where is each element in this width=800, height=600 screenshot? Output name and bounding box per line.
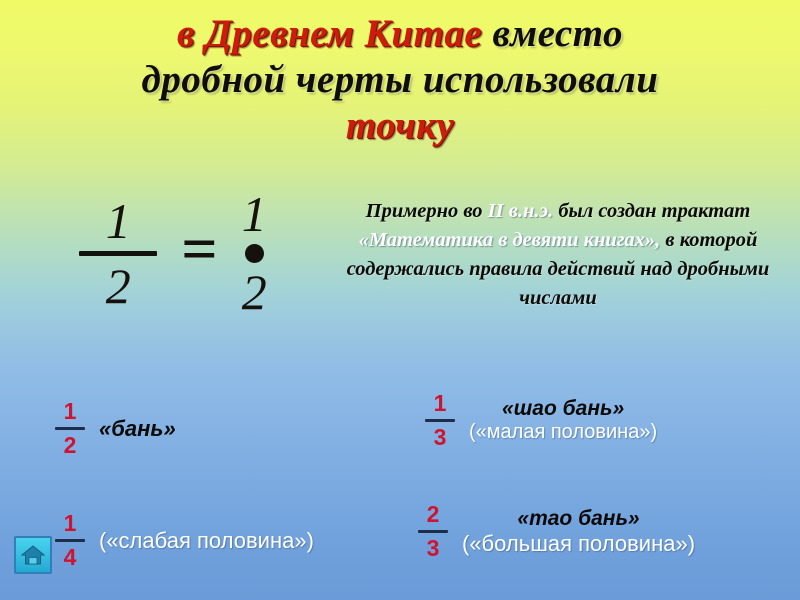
denominator: 3 (434, 425, 447, 449)
term-gloss: («малая половина») (469, 421, 657, 444)
fraction-bar-line (79, 251, 157, 256)
equals-sign: = (181, 217, 217, 281)
fraction-line (55, 539, 85, 542)
fraction-line (55, 427, 85, 430)
title-line-1: в Древнем Китае вместо (0, 14, 800, 54)
title-line-3: точку (0, 106, 800, 146)
fraction-dot-denominator: 2 (242, 267, 267, 317)
fraction-one-third: 1 3 (425, 392, 455, 449)
fraction-one-half: 1 2 (55, 400, 85, 457)
paragraph-highlight-treatise: «Математика в девяти книгах», (359, 229, 661, 251)
term-label-group: «шао бань» («малая половина») (469, 397, 657, 444)
home-icon (21, 544, 45, 566)
denominator: 4 (64, 545, 77, 569)
term-row-slabaya-polovina: 1 4 («слабая половина») (55, 512, 314, 569)
slide-title: в Древнем Китае вместо дробной черты исп… (0, 14, 800, 145)
paragraph-highlight-century: II в.н.э. (488, 200, 554, 222)
numerator: 1 (64, 400, 77, 424)
term-gloss: («слабая половина») (99, 528, 314, 554)
denominator: 3 (427, 536, 440, 560)
term-gloss: («большая половина») (462, 531, 695, 557)
title-word-vmesto: вместо (492, 12, 623, 55)
fraction-one-quarter: 1 4 (55, 512, 85, 569)
term-name: «тао бань» (462, 507, 695, 531)
term-row-ban: 1 2 «бань» (55, 400, 176, 457)
fraction-line (425, 419, 455, 422)
fraction-dot-notation: 1 2 (242, 189, 267, 317)
numerator: 1 (64, 512, 77, 536)
denominator: 2 (64, 433, 77, 457)
term-label-group: («слабая половина») (99, 528, 314, 554)
term-row-tao-ban: 2 3 «тао бань» («большая половина») (418, 503, 695, 560)
fraction-dot-numerator: 1 (242, 189, 267, 239)
fraction-two-thirds: 2 3 (418, 503, 448, 560)
numerator: 1 (434, 392, 447, 416)
term-label-group: «бань» (99, 416, 176, 442)
slide-canvas: в Древнем Китае вместо дробной черты исп… (0, 0, 800, 600)
title-emphasis-red: в Древнем Китае (177, 12, 482, 55)
term-label-group: «тао бань» («большая половина») (462, 507, 695, 557)
term-row-shao-ban: 1 3 «шао бань» («малая половина») (425, 392, 657, 449)
paragraph-part-1: Примерно во (366, 200, 488, 222)
separator-dot-icon (245, 244, 264, 263)
home-button[interactable] (14, 536, 52, 574)
fraction-bar-denominator: 2 (106, 258, 131, 311)
fraction-bar-notation: 1 2 (79, 196, 157, 311)
fraction-line (418, 530, 448, 533)
paragraph-part-2: был создан трактат (553, 200, 750, 222)
explanatory-paragraph: Примерно во II в.н.э. был создан трактат… (330, 197, 786, 313)
fraction-equation: 1 2 = 1 2 (28, 188, 318, 318)
title-line-2: дробной черты использовали (0, 60, 800, 100)
term-name: «шао бань» (469, 397, 657, 421)
term-name: «бань» (99, 416, 176, 441)
numerator: 2 (427, 503, 440, 527)
fraction-bar-numerator: 1 (106, 196, 131, 249)
